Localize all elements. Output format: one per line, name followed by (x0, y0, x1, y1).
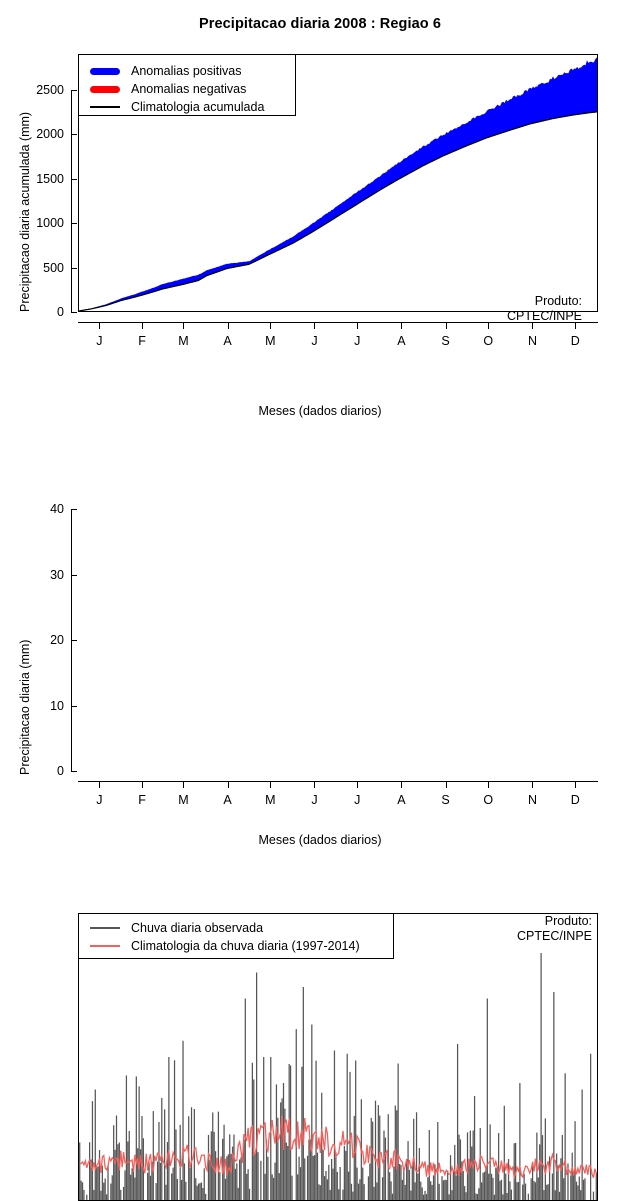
legend-key-mark (90, 945, 120, 947)
legend-label: Climatologia acumulada (123, 100, 264, 114)
y-axis-tick-label: 500 (0, 262, 64, 274)
x-axis-tick (357, 323, 358, 329)
cumulative-legend-item: Anomalias negativas (87, 80, 287, 98)
x-axis-tick-label: D (563, 334, 587, 348)
y-axis-line (71, 509, 72, 771)
x-axis-tick (270, 782, 271, 788)
legend-label: Anomalias negativas (123, 82, 246, 96)
produto-line-2: CPTEC/INPE (517, 929, 592, 944)
x-axis-tick (488, 782, 489, 788)
y-axis-tick-label: 0 (0, 765, 64, 777)
x-axis-tick (99, 782, 100, 788)
produto-line-1: Produto: (517, 914, 592, 929)
x-axis-tick (532, 782, 533, 788)
x-axis-tick (446, 323, 447, 329)
x-axis-tick (314, 782, 315, 788)
x-axis-tick-label: A (389, 793, 413, 807)
x-axis-tick (575, 782, 576, 788)
legend-line-icon (87, 945, 123, 947)
y-axis-tick (71, 312, 77, 313)
y-axis-tick-label: 1500 (0, 173, 64, 185)
page-title: Precipitacao diaria 2008 : Regiao 6 (0, 16, 640, 32)
x-axis-tick (142, 323, 143, 329)
x-axis-tick-label: S (434, 793, 458, 807)
x-axis-tick-label: N (520, 334, 544, 348)
legend-swatch-icon (87, 86, 123, 93)
y-axis-tick-label: 40 (0, 503, 64, 515)
legend-key-mark (90, 86, 120, 93)
legend-daily: Chuva diaria observadaClimatologia da ch… (78, 913, 394, 959)
x-axis-tick-label: A (216, 334, 240, 348)
y-axis-tick-label: 2000 (0, 128, 64, 140)
legend-key-mark (90, 68, 120, 75)
x-axis-tick (314, 323, 315, 329)
x-axis-line (78, 781, 598, 782)
daily-precipitation-panel: Precipitacao diaria (mm) 010203040 JFMAM… (0, 430, 640, 850)
x-axis-tick-label: O (476, 793, 500, 807)
legend-key-mark (90, 927, 120, 929)
legend-cumulative: Anomalias positivasAnomalias negativasCl… (78, 54, 296, 116)
x-axis-tick-label: M (171, 334, 195, 348)
x-axis-tick (401, 323, 402, 329)
legend-label: Anomalias positivas (123, 64, 241, 78)
legend-label: Climatologia da chuva diaria (1997-2014) (123, 939, 360, 953)
produto-line-1: Produto: (507, 294, 582, 309)
x-axis-tick-label: M (258, 334, 282, 348)
x-axis-tick (228, 323, 229, 329)
y-axis-title-top: Precipitacao diaria acumulada (mm) (18, 112, 32, 312)
x-axis-tick (446, 782, 447, 788)
x-axis-tick-label: M (171, 793, 195, 807)
x-axis-tick (357, 782, 358, 788)
y-axis-line (71, 90, 72, 312)
cumulative-precipitation-panel: Precipitacao diaria 2008 : Regiao 6 Prec… (0, 0, 640, 430)
x-axis-tick-label: O (476, 334, 500, 348)
x-axis-tick-label: J (302, 334, 326, 348)
x-axis-tick (183, 782, 184, 788)
x-axis-tick (228, 782, 229, 788)
chart-page: Precipitacao diaria 2008 : Regiao 6 Prec… (0, 0, 640, 850)
x-axis-tick-label: S (434, 334, 458, 348)
produto-annotation-bottom: Produto: CPTEC/INPE (517, 914, 592, 944)
x-axis-tick-label: A (389, 334, 413, 348)
cumulative-legend-item: Climatologia acumulada (87, 98, 287, 116)
daily-legend-item: Climatologia da chuva diaria (1997-2014) (87, 937, 385, 955)
x-axis-tick-label: J (87, 793, 111, 807)
daily-legend-item: Chuva diaria observada (87, 919, 385, 937)
x-axis-tick-label: F (130, 793, 154, 807)
x-axis-tick-label: D (563, 793, 587, 807)
x-axis-tick-label: J (302, 793, 326, 807)
y-axis-tick-label: 0 (0, 306, 64, 318)
legend-line-icon (87, 106, 123, 108)
x-axis-tick-label: N (520, 793, 544, 807)
x-axis-tick (99, 323, 100, 329)
legend-key-mark (90, 106, 120, 108)
x-axis-title-bottom: Meses (dados diarios) (0, 833, 640, 847)
x-axis-tick (401, 782, 402, 788)
y-axis-tick-label: 1000 (0, 217, 64, 229)
observed-daily-bars (80, 953, 597, 1200)
x-axis-tick (270, 323, 271, 329)
legend-label: Chuva diaria observada (123, 921, 263, 935)
x-axis-tick (488, 323, 489, 329)
x-axis-tick-label: F (130, 334, 154, 348)
x-axis-tick (183, 323, 184, 329)
y-axis-tick-label: 20 (0, 634, 64, 646)
x-axis-tick-label: A (216, 793, 240, 807)
legend-line-icon (87, 927, 123, 929)
produto-annotation-top: Produto: CPTEC/INPE (507, 294, 582, 324)
x-axis-tick-label: J (345, 334, 369, 348)
y-axis-tick (71, 771, 77, 772)
x-axis-tick-label: J (345, 793, 369, 807)
y-axis-tick-label: 2500 (0, 84, 64, 96)
x-axis-tick-label: J (87, 334, 111, 348)
x-axis-tick (142, 782, 143, 788)
x-axis-tick-label: M (258, 793, 282, 807)
x-axis-title-top: Meses (dados diarios) (0, 404, 640, 418)
produto-line-2: CPTEC/INPE (507, 309, 582, 324)
cumulative-legend-item: Anomalias positivas (87, 62, 287, 80)
legend-swatch-icon (87, 68, 123, 75)
y-axis-tick-label: 10 (0, 700, 64, 712)
y-axis-tick-label: 30 (0, 569, 64, 581)
